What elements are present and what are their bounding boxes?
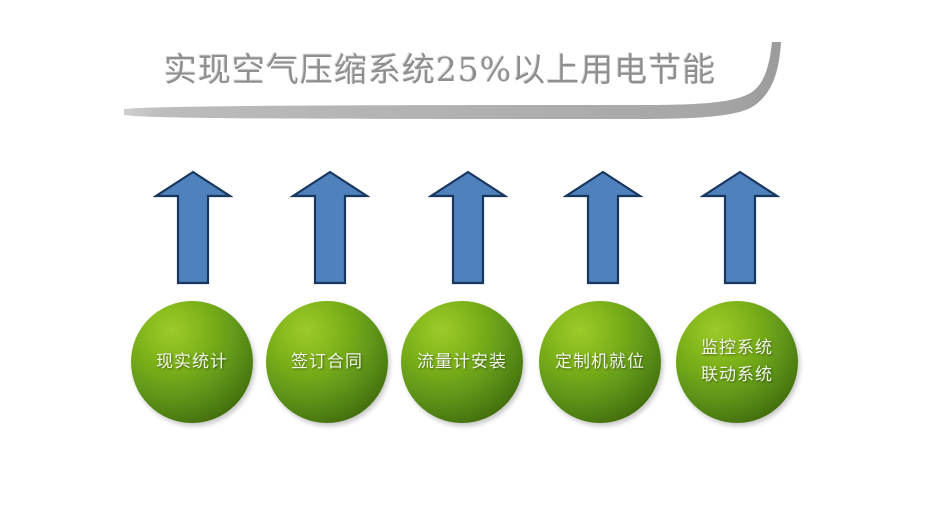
page-title: 实现空气压缩系统25%以上用电节能 (120, 48, 760, 92)
arrow-up-4 (563, 170, 643, 285)
step-node-1-label: 现实统计 (150, 350, 234, 374)
step-node-5[interactable]: 监控系统 联动系统 (676, 301, 798, 423)
step-node-4-label: 定制机就位 (549, 350, 651, 374)
arrow-up-1 (153, 170, 233, 285)
arrow-up-2 (290, 170, 370, 285)
arrow-up-3 (428, 170, 508, 285)
step-node-2-label: 签订合同 (285, 350, 369, 374)
step-node-3[interactable]: 流量计安装 (401, 301, 523, 423)
step-node-3-label: 流量计安装 (411, 350, 513, 374)
step-node-5-label: 监控系统 联动系统 (695, 335, 779, 389)
step-node-1[interactable]: 现实统计 (131, 301, 253, 423)
step-node-4[interactable]: 定制机就位 (539, 301, 661, 423)
slide-canvas: 实现空气压缩系统25%以上用电节能 现实统计 签订合同 流量计安装 定制机就位 (0, 0, 945, 529)
step-node-2[interactable]: 签订合同 (266, 301, 388, 423)
arrow-up-5 (700, 170, 780, 285)
